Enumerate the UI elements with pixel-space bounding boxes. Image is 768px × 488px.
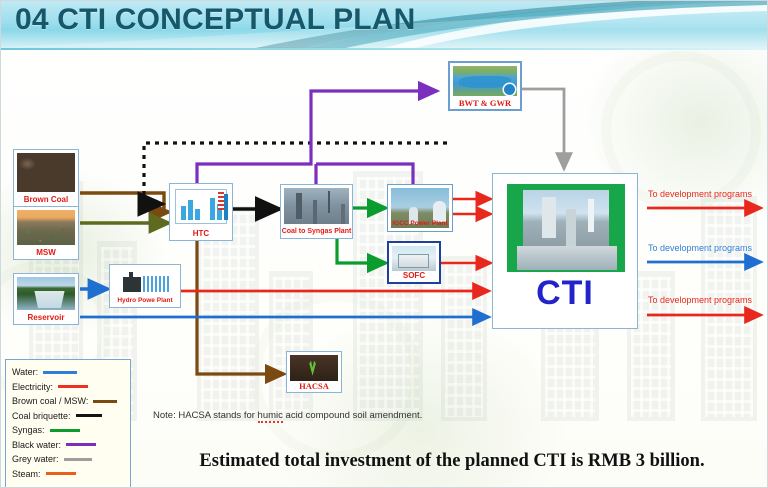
legend-label-steam: Steam:: [12, 469, 41, 479]
node-reservoir-label: Reservoir: [14, 313, 78, 323]
legend-item-coal-briquette: Coal briquette:: [12, 409, 124, 424]
reservoir-photo: [17, 277, 75, 310]
legend-label-syngas: Syngas:: [12, 425, 45, 435]
node-coal-to-syngas-plant[interactable]: Coal to Syngas Plant: [280, 184, 353, 239]
legend-swatch-water: [43, 371, 77, 374]
legend-swatch-black-water: [66, 443, 96, 446]
legend-swatch-grey-water: [64, 458, 92, 461]
node-htc-label: HTC: [170, 229, 232, 239]
node-brown-coal-label: Brown Coal: [14, 195, 78, 205]
node-sofc[interactable]: SOFC: [387, 241, 441, 284]
water-treatment-photo: [453, 66, 517, 96]
node-hacsa-label: HACSA: [287, 381, 341, 391]
node-hacsa[interactable]: HACSA: [286, 351, 342, 393]
node-msw[interactable]: MSW: [13, 206, 79, 260]
node-brown-coal[interactable]: Brown Coal: [13, 149, 79, 207]
brown-coal-photo: [17, 153, 75, 192]
legend-item-water: Water:: [12, 365, 124, 380]
legend-label-brown-coal-msw: Brown coal / MSW:: [12, 396, 88, 406]
output-label-2: To development programs: [648, 243, 752, 253]
legend-label-water: Water:: [12, 367, 38, 377]
node-hydro-power-plant[interactable]: Hydro Powe Plant: [109, 264, 181, 308]
sofc-photo: [392, 246, 436, 271]
note-spellcheck-word: humic: [258, 410, 283, 423]
msw-photo: [17, 210, 75, 245]
legend-item-steam: Steam:: [12, 467, 124, 482]
node-reservoir[interactable]: Reservoir: [13, 273, 79, 325]
slide-header: 04 CTI CONCEPTUAL PLAN: [1, 1, 768, 49]
legend-swatch-brown-coal-msw: [93, 400, 117, 403]
node-igcc-label: IGCC Power Plant: [388, 219, 452, 229]
node-htc[interactable]: HTC: [169, 183, 233, 241]
syngas-plant-photo: [284, 188, 349, 224]
legend-swatch-steam: [46, 472, 76, 475]
output-label-1: To development programs: [648, 189, 752, 199]
node-bwt-label: BWT & GWR: [450, 98, 520, 108]
legend-swatch-syngas: [50, 429, 80, 432]
legend-item-black-water: Black water:: [12, 438, 124, 453]
node-sofc-label: SOFC: [389, 271, 439, 281]
seedling-photo: [290, 355, 338, 381]
legend-label-electricity: Electricity:: [12, 382, 53, 392]
legend-item-syngas: Syngas:: [12, 423, 124, 438]
legend-item-brown-coal-msw: Brown coal / MSW:: [12, 394, 124, 409]
hydro-plant-photo: [113, 268, 177, 293]
legend-label-coal-briquette: Coal briquette:: [12, 411, 71, 421]
legend-swatch-coal-briquette: [76, 414, 102, 417]
htc-chart-photo: [173, 187, 229, 226]
legend-label-grey-water: Grey water:: [12, 454, 59, 464]
node-cti-label: CTI: [493, 274, 637, 313]
node-hydro-label: Hydro Powe Plant: [110, 296, 180, 306]
cti-plant-photo: [507, 184, 625, 272]
node-cti[interactable]: CTI: [492, 173, 638, 329]
note-text: Note: HACSA stands for humic acid compou…: [153, 410, 422, 421]
node-msw-label: MSW: [14, 248, 78, 258]
footer-text: Estimated total investment of the planne…: [199, 451, 704, 471]
node-igcc-power-plant[interactable]: IGCC Power Plant: [387, 184, 453, 232]
legend-label-black-water: Black water:: [12, 440, 61, 450]
footer-banner: Estimated total investment of the planne…: [137, 451, 767, 472]
node-bwt-gwr[interactable]: BWT & GWR: [448, 61, 522, 111]
legend-item-electricity: Electricity:: [12, 380, 124, 395]
page-title: 04 CTI CONCEPTUAL PLAN: [15, 3, 416, 37]
note-suffix: acid compound soil amendment.: [283, 410, 422, 421]
output-label-3: To development programs: [648, 295, 752, 305]
header-divider: [1, 48, 768, 50]
note-prefix: Note: HACSA stands for: [153, 410, 258, 421]
legend-box: Water: Electricity: Brown coal / MSW: Co…: [5, 359, 131, 488]
legend-swatch-electricity: [58, 385, 88, 388]
slide-canvas: 04 CTI CONCEPTUAL PLAN: [0, 0, 768, 488]
legend-item-grey-water: Grey water:: [12, 452, 124, 467]
node-syngas-label: Coal to Syngas Plant: [281, 227, 352, 237]
